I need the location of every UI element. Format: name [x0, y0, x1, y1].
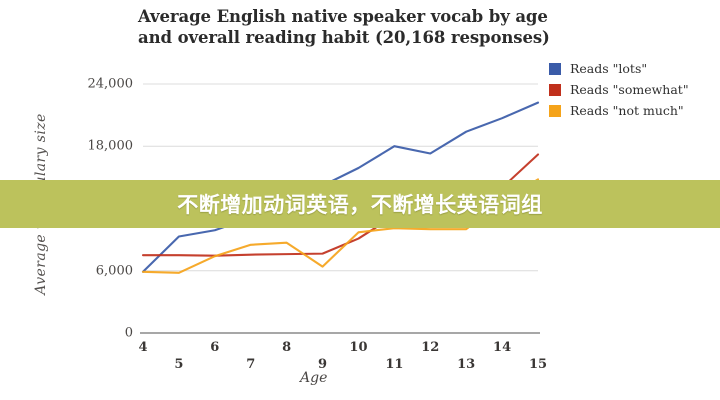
- legend-swatch-icon: [549, 84, 561, 96]
- legend-item-label: Reads "not much": [570, 103, 684, 118]
- y-tick-label: 6,000: [55, 263, 133, 278]
- x-tick-label: 15: [521, 357, 555, 372]
- legend-item: Reads "not much": [549, 100, 689, 121]
- legend-item: Reads "somewhat": [549, 79, 689, 100]
- x-tick-label: 10: [341, 340, 375, 355]
- legend-item-label: Reads "lots": [570, 61, 647, 76]
- y-tick-label: 18,000: [55, 139, 133, 154]
- y-tick-label: 0: [55, 326, 133, 341]
- chart-page: Average English native speaker vocab by …: [0, 0, 720, 400]
- x-tick-label: 9: [306, 357, 340, 372]
- legend-swatch-icon: [549, 63, 561, 75]
- legend-item: Reads "lots": [549, 58, 689, 79]
- x-tick-label: 14: [485, 340, 519, 355]
- x-tick-label: 4: [126, 340, 160, 355]
- legend-item-label: Reads "somewhat": [570, 82, 689, 97]
- x-tick-label: 11: [377, 357, 411, 372]
- x-tick-label: 8: [270, 340, 304, 355]
- x-tick-label: 13: [449, 357, 483, 372]
- x-tick-label: 7: [234, 357, 268, 372]
- legend-swatch-icon: [549, 105, 561, 117]
- x-tick-label: 12: [413, 340, 447, 355]
- chart-legend: Reads "lots"Reads "somewhat"Reads "not m…: [549, 58, 689, 121]
- y-tick-label: 24,000: [55, 76, 133, 91]
- x-tick-label: 5: [162, 357, 196, 372]
- x-tick-label: 6: [198, 340, 232, 355]
- watermark-banner-text: 不断增加动词英语，不断增长英语词组: [0, 180, 720, 228]
